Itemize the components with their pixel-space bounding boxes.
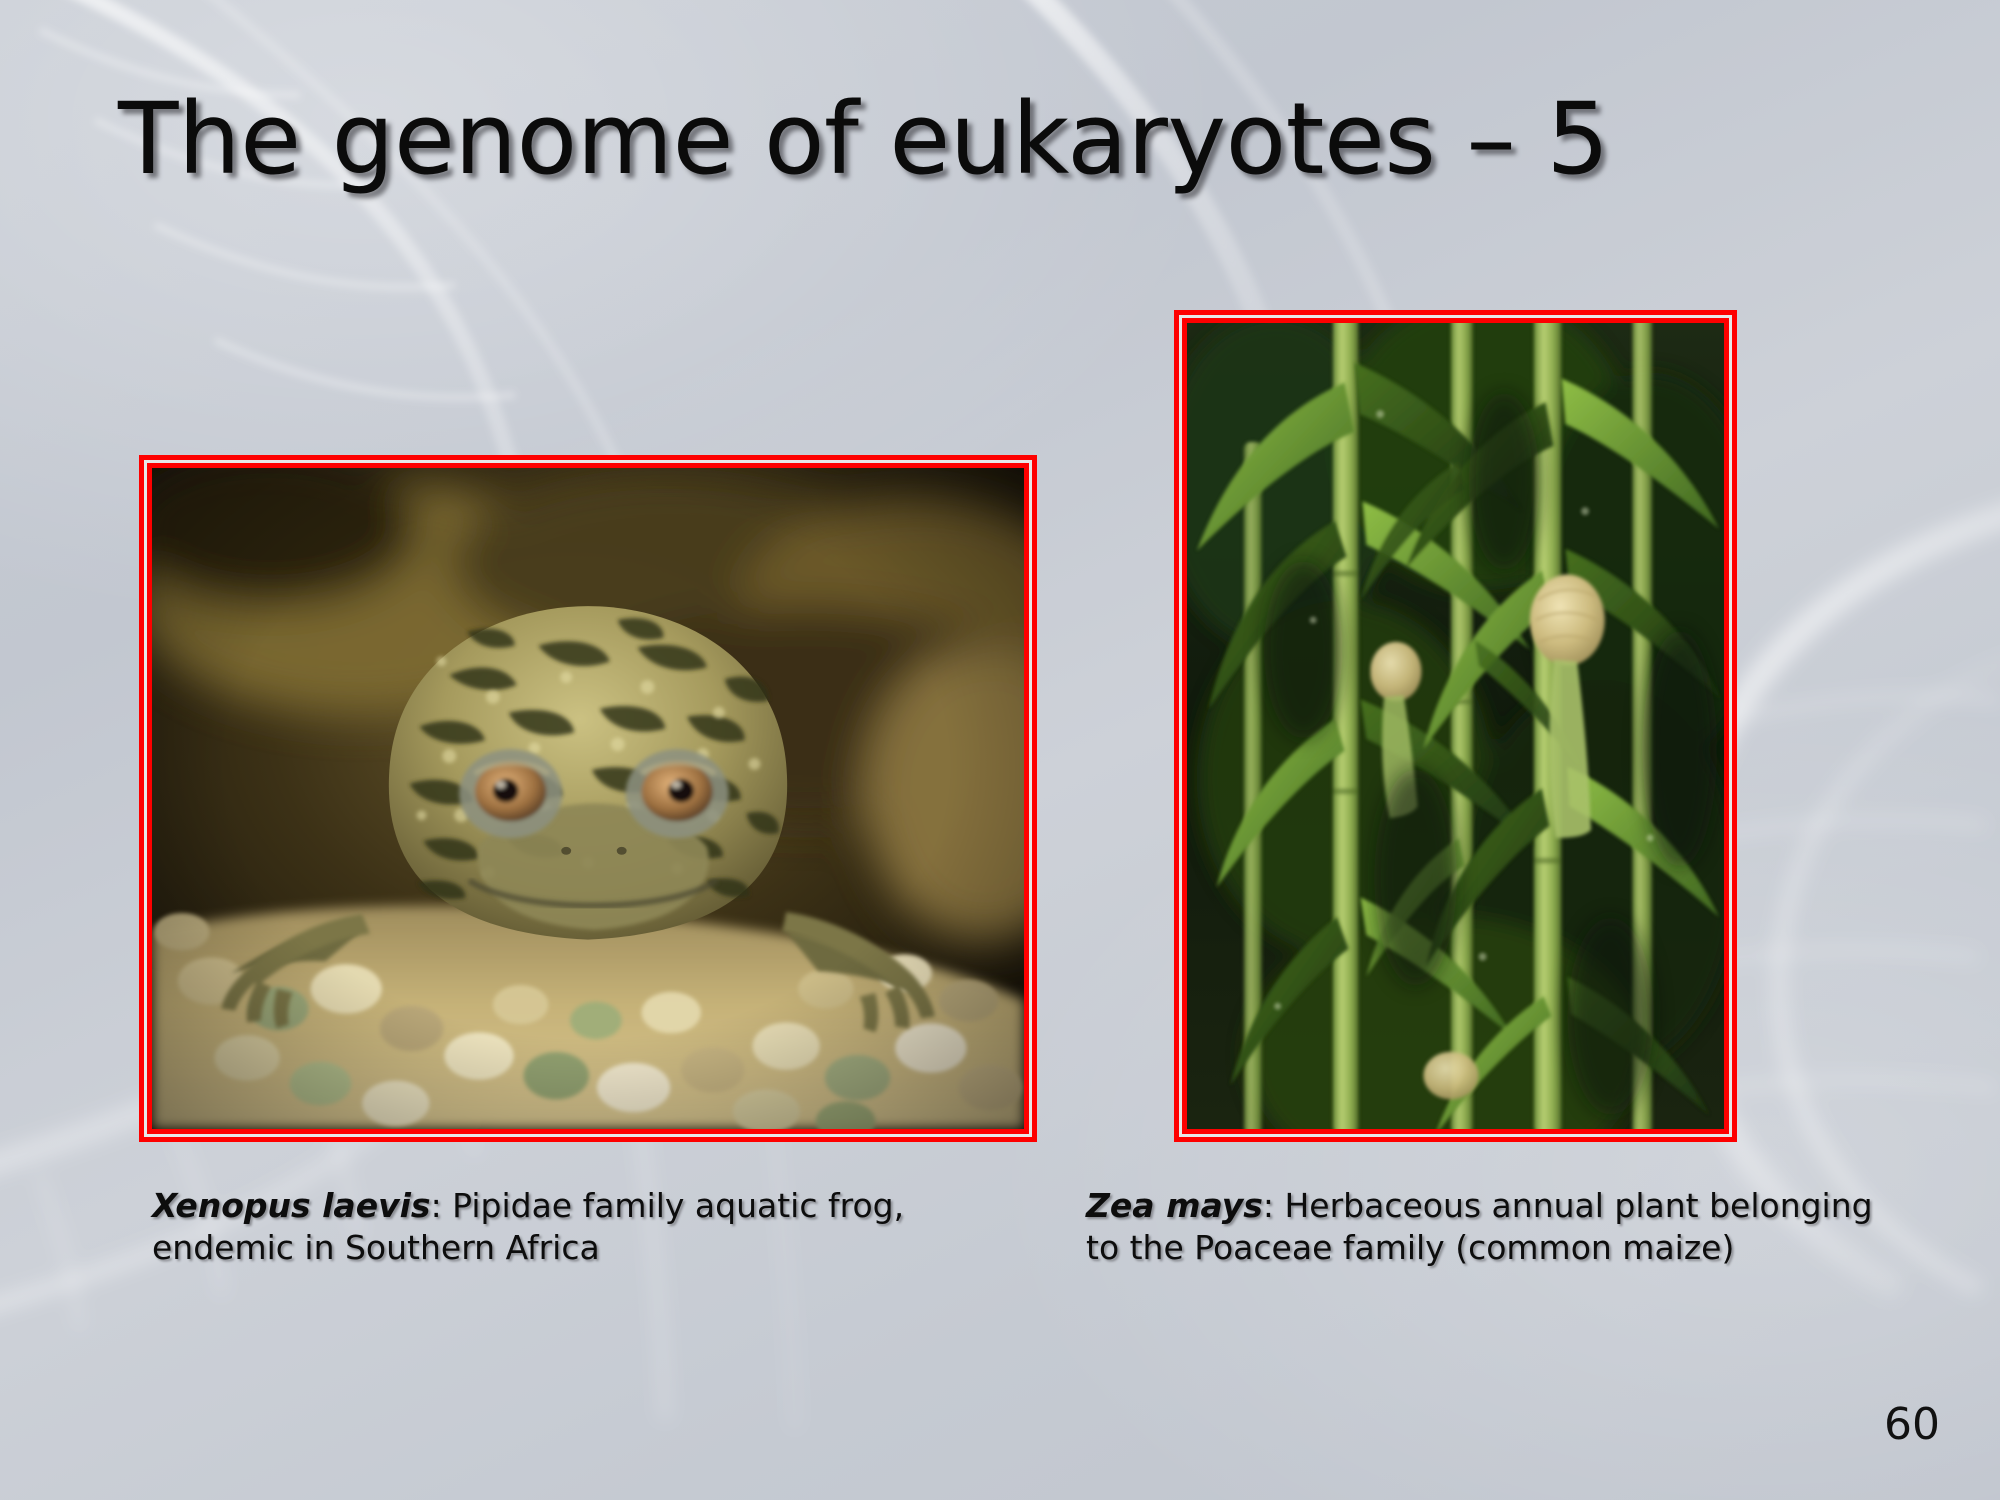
zea-mays-image-frame[interactable]: [1174, 310, 1737, 1142]
caption-separator: :: [431, 1186, 453, 1225]
slide-title: The genome of eukaryotes – 5: [118, 88, 1918, 193]
caption-species-name: Zea mays: [1086, 1186, 1263, 1225]
caption-text-line2: to the Poaceae family (common maize): [1086, 1227, 1924, 1269]
caption-text-line1: Herbaceous annual plant belonging: [1284, 1186, 1872, 1225]
slide-page-number: 60: [1884, 1399, 1940, 1450]
xenopus-laevis-caption: Xenopus laevis: Pipidae family aquatic f…: [152, 1185, 997, 1269]
presentation-slide: The genome of eukaryotes – 5: [0, 0, 2000, 1500]
caption-species-name: Xenopus laevis: [152, 1186, 431, 1225]
xenopus-laevis-photo: [152, 468, 1024, 1129]
frame-inner-border: [1182, 318, 1729, 1134]
zea-mays-photo: [1187, 323, 1724, 1129]
zea-mays-caption: Zea mays: Herbaceous annual plant belong…: [1086, 1185, 1924, 1269]
caption-separator: :: [1263, 1186, 1285, 1225]
frame-inner-border: [147, 463, 1029, 1134]
caption-text-line2: endemic in Southern Africa: [152, 1227, 997, 1269]
caption-text-line1: Pipidae family aquatic frog,: [452, 1186, 904, 1225]
xenopus-laevis-image-frame[interactable]: [139, 455, 1037, 1142]
